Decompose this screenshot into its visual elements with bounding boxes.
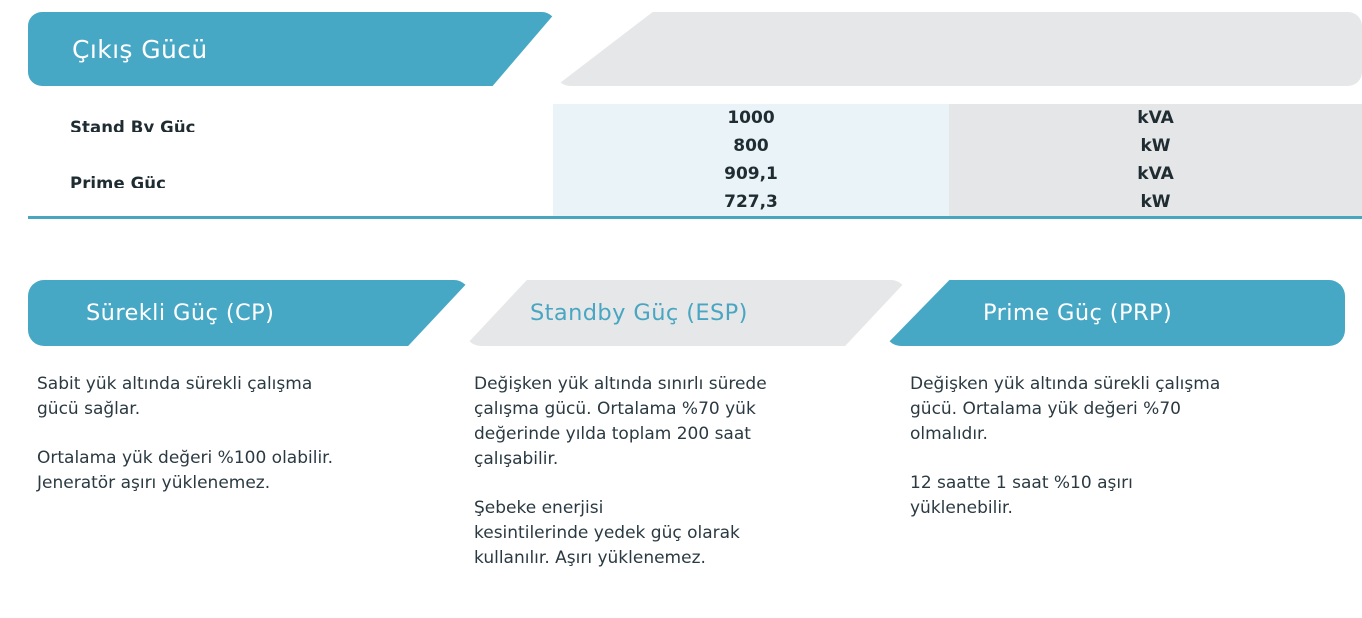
card-paragraph: Sabit yük altında sürekli çalışma gücü s… — [37, 372, 460, 422]
output-power-spec-table: Çıkış Gücü Stand By Güç 1000 kVA 800 kW … — [0, 0, 1362, 230]
table-row: 727,3 kW — [0, 188, 1362, 216]
card-surekli-guc: Sürekli Güç (CP) Sabit yük altında sürek… — [28, 280, 470, 496]
card-body: Sabit yük altında sürekli çalışma gücü s… — [28, 346, 470, 496]
value-cell: 727,3 — [553, 188, 949, 216]
power-rating-cards: Sürekli Güç (CP) Sabit yük altında sürek… — [0, 280, 1362, 618]
card-prime-guc: Prime Güç (PRP) Değişken yük altında sür… — [885, 280, 1345, 521]
unit-cell: kW — [949, 132, 1362, 160]
card-paragraph: Ortalama yük değeri %100 olabilir. Jener… — [37, 446, 460, 496]
card-header-standby-guc: Standby Güç (ESP) — [465, 280, 907, 346]
card-paragraph: 12 saatte 1 saat %10 aşırı yüklenebilir. — [910, 471, 1335, 521]
row-label-cell-empty — [0, 188, 553, 216]
spec-table-title: Çıkış Gücü — [28, 35, 208, 64]
table-row: 800 kW — [0, 132, 1362, 160]
spec-table-header-band: Çıkış Gücü — [0, 12, 1362, 86]
card-header-prime-guc: Prime Güç (PRP) — [885, 280, 1345, 346]
card-body: Değişken yük altında sınırlı sürede çalı… — [465, 346, 907, 571]
value-cell: 800 — [553, 132, 949, 160]
spec-table-header-gray-banner — [556, 12, 1362, 86]
card-paragraph: Değişken yük altında sürekli çalışma güc… — [910, 372, 1335, 447]
card-body: Değişken yük altında sürekli çalışma güc… — [885, 346, 1345, 521]
card-paragraph: Şebeke enerjisi kesintilerinde yedek güç… — [474, 496, 897, 571]
card-standby-guc: Standby Güç (ESP) Değişken yük altında s… — [465, 280, 907, 571]
spec-table-title-banner: Çıkış Gücü — [28, 12, 556, 86]
unit-cell: kVA — [949, 104, 1362, 132]
unit-cell: kVA — [949, 160, 1362, 188]
value-cell: 909,1 — [553, 160, 949, 188]
table-row: Stand By Güç 1000 kVA — [0, 104, 1362, 132]
row-label-cell: Stand By Güç — [0, 104, 553, 132]
card-header-surekli-guc: Sürekli Güç (CP) — [28, 280, 470, 346]
row-label-cell-empty — [0, 132, 553, 160]
card-title: Standby Güç (ESP) — [465, 300, 748, 326]
row-label-cell: Prime Güç — [0, 160, 553, 188]
card-title: Prime Güç (PRP) — [885, 300, 1172, 326]
unit-cell: kW — [949, 188, 1362, 216]
value-cell: 1000 — [553, 104, 949, 132]
card-paragraph: Değişken yük altında sınırlı sürede çalı… — [474, 372, 897, 472]
table-row: Prime Güç 909,1 kVA — [0, 160, 1362, 188]
card-title: Sürekli Güç (CP) — [28, 300, 274, 326]
table-bottom-divider — [28, 216, 1362, 219]
spec-table-rows: Stand By Güç 1000 kVA 800 kW Prime Güç 9… — [0, 104, 1362, 216]
